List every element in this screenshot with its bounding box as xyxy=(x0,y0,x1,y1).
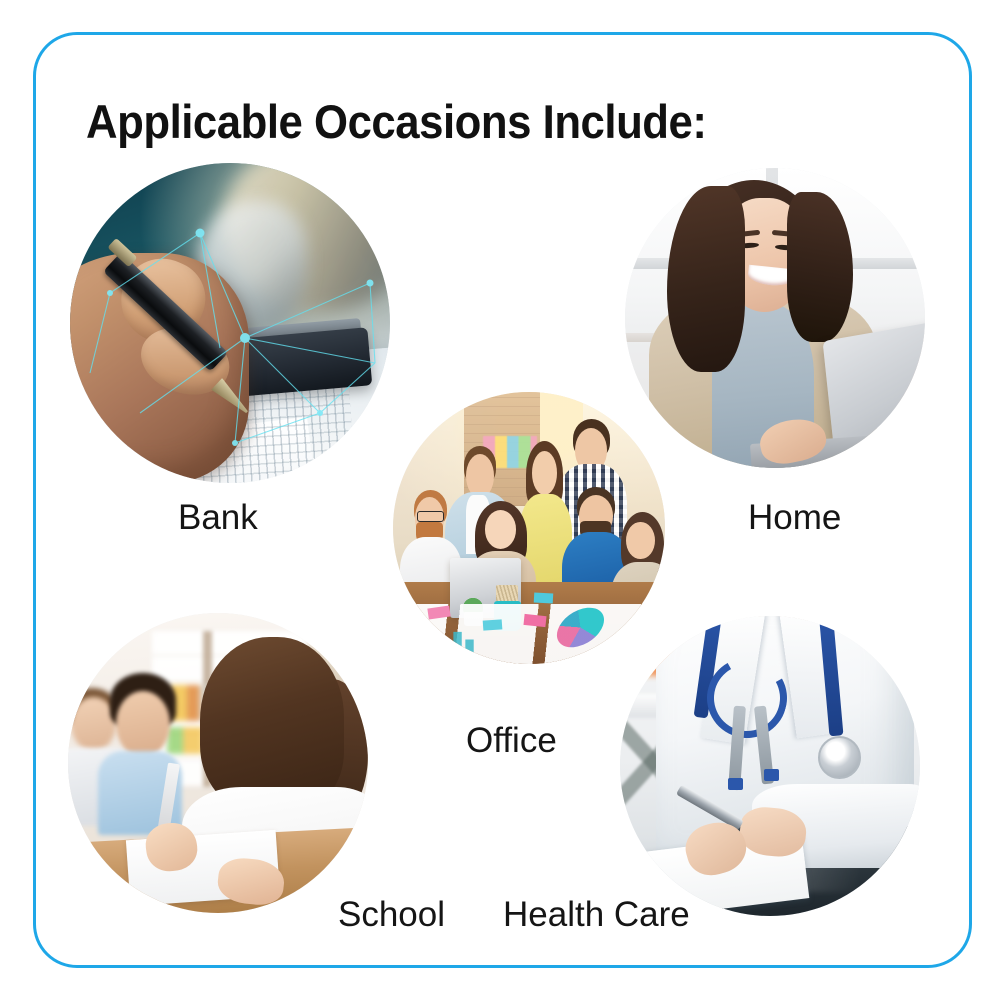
occasion-label-office: Office xyxy=(466,722,557,760)
occasion-label-bank: Bank xyxy=(178,499,258,537)
promo-banner: Applicable Occasions Include: xyxy=(0,0,1000,1000)
occasion-label-health-care: Health Care xyxy=(503,896,690,934)
page-title: Applicable Occasions Include: xyxy=(86,96,706,148)
occasion-photo-home xyxy=(625,168,925,468)
occasion-photo-health-care xyxy=(620,616,920,916)
occasion-label-school: School xyxy=(338,896,445,934)
network-overlay-icon xyxy=(70,163,390,483)
occasion-label-home: Home xyxy=(748,499,841,537)
occasion-photo-school xyxy=(68,613,368,913)
occasion-photo-bank xyxy=(70,163,390,483)
